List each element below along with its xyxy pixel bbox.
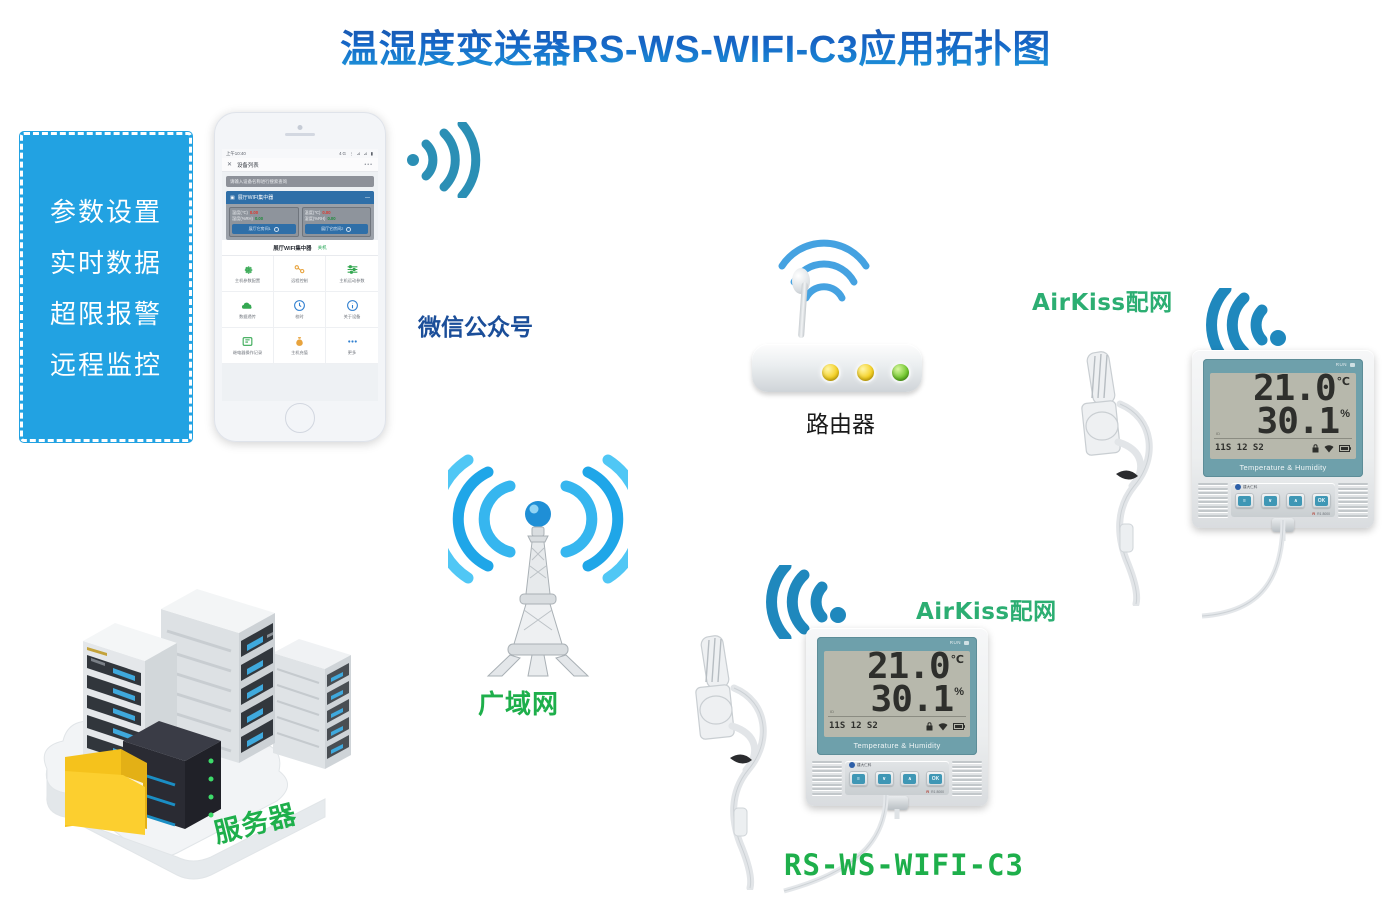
ok-icon: OK [929, 774, 942, 784]
device-caption: Temperature & Humidity [817, 741, 977, 750]
device-button-menu[interactable]: ≡ [849, 771, 868, 786]
gear-icon [346, 227, 351, 232]
airkiss-label-top: AirKiss配网 [1032, 283, 1173, 317]
status-time: 上午10:40 [226, 151, 246, 157]
lcd-time: 11S 12 S2 [1215, 443, 1264, 453]
device-button-ok[interactable]: OK [926, 771, 945, 786]
device-button-ok[interactable]: OK [1312, 493, 1331, 508]
device-button-down[interactable]: ∨ [875, 771, 894, 786]
lcd-id-label: ID [830, 709, 834, 714]
lcd-status-row: 11S 12 S2 [829, 720, 965, 732]
grid-item-label-0: 主机参数配置 [235, 279, 260, 283]
brand-logo-icon [849, 762, 855, 768]
grid-item-5[interactable]: 关于设备 [326, 292, 378, 328]
wechat-wifi-icon [404, 122, 488, 198]
sensor-cell-0: 温度(℃)0.00 湿度(%RH)0.00 展厅它房间1 [229, 207, 299, 237]
sensor-cell-1: 温度(℃)0.00 湿度(%RH)0.00 展厅它房间2 [302, 207, 372, 237]
device-button-menu[interactable]: ≡ [1235, 493, 1254, 508]
expand-icon: ▣ [230, 195, 235, 201]
run-led-icon [964, 641, 969, 645]
phone-home-button[interactable] [285, 403, 315, 433]
brand-logo-icon [1235, 484, 1241, 490]
sensor-cell-button-label-1: 展厅它房间2 [321, 226, 343, 232]
device-status-badge: 关机 [318, 245, 327, 251]
remote-control-icon [293, 263, 306, 276]
device-run-indicator: RUN [950, 640, 969, 645]
grid-item-0[interactable]: 主机参数配置 [222, 256, 274, 292]
relay-log-icon [241, 335, 254, 348]
hum-value: 0.00 [255, 216, 263, 221]
model-text: R1 8000 [931, 790, 944, 794]
server-cluster [35, 565, 385, 885]
lock-icon [1312, 444, 1319, 453]
lcd-time: 11S 12 S2 [829, 721, 878, 731]
grid-item-3[interactable]: 数据透传 [222, 292, 274, 328]
info-icon [346, 299, 359, 312]
gear-icon [241, 263, 254, 276]
more-dots-icon[interactable]: ••• [364, 162, 373, 168]
grid-item-2[interactable]: 主机运动参数 [326, 256, 378, 292]
device-buttons: ≡ ∨ ∧ OK [1235, 493, 1331, 508]
grid-item-label-2: 主机运动参数 [339, 279, 364, 283]
temp-value: 0.00 [322, 210, 330, 215]
feature-item-0: 参数设置 [50, 192, 162, 229]
temp-value: 0.00 [250, 210, 258, 215]
lcd-humidity-value: 30.1 [871, 683, 954, 717]
lcd-icon-group [926, 722, 965, 731]
grid-item-label-5: 关于设备 [344, 315, 361, 319]
chevron-down-icon: ∨ [878, 774, 891, 784]
battery-icon [953, 723, 965, 730]
model-label: RS-WS-WIFI-C3 [784, 848, 1024, 882]
grid-item-label-7: 主机充值 [291, 351, 308, 355]
lcd-temperature-unit: ℃ [1337, 375, 1350, 388]
money-bag-icon [293, 335, 306, 348]
lock-icon [926, 722, 933, 731]
phone-screen: 上午10:40 4G ⋮ ⊿ ⊿ ▮ ✕ 设备列表 ••• 请输入设备名称进行搜… [222, 149, 378, 401]
device-bezel: RUN 21.0 ℃ 30.1 % ID 11S 12 S2 [1203, 359, 1363, 477]
sensor-device-top: RUN 21.0 ℃ 30.1 % ID 11S 12 S2 [1192, 350, 1374, 528]
model-text: R1 8000 [1317, 512, 1330, 516]
feature-item-3: 远程监控 [50, 345, 162, 382]
feature-list-box: 参数设置 实时数据 超限报警 远程监控 [20, 132, 192, 442]
vent-right-icon [952, 759, 982, 797]
lcd-icon-group [1312, 444, 1351, 453]
ok-icon: OK [1315, 496, 1328, 506]
grid-item-label-1: 远程控制 [291, 279, 308, 283]
wifi-icon [938, 722, 948, 731]
device-bezel: RUN 21.0 ℃ 30.1 % ID 11S 12 S2 [817, 637, 977, 755]
chevron-up-icon: ∧ [1289, 496, 1302, 506]
brand-name: 建大仁科 [857, 763, 871, 768]
search-placeholder: 请输入设备名称进行搜索查询 [230, 179, 287, 185]
sensor-cell-button-label-0: 展厅它房间1 [249, 226, 271, 232]
device-brand: 建大仁科 [1235, 484, 1257, 490]
topology-diagram: 温湿度变送器RS-WS-WIFI-C3应用拓扑图 参数设置 实时数据 超限报警 … [0, 0, 1391, 906]
phone-camera-icon [298, 125, 303, 130]
vent-left-icon [812, 759, 842, 797]
lcd-id-label: ID [1216, 431, 1220, 436]
hum-label: 湿度(%RH) [305, 216, 326, 222]
device-button-up[interactable]: ∧ [1286, 493, 1305, 508]
brand-name: 建大仁科 [1243, 485, 1257, 490]
menu-icon: ≡ [852, 774, 865, 784]
grid-item-6[interactable]: 继电器操作记录 [222, 328, 274, 364]
lcd-humidity-row: 30.1 % [1257, 405, 1350, 439]
vent-left-icon [1198, 481, 1228, 519]
function-grid: 主机参数配置 远程控制 主机运动参数 [222, 256, 378, 364]
grid-item-label-8: 更多 [348, 351, 356, 355]
sensor-device-bottom: RUN 21.0 ℃ 30.1 % ID 11S 12 S2 [806, 628, 988, 806]
model-logo-icon: R [1312, 511, 1315, 516]
device-button-panel: 建大仁科 ≡ ∨ ∧ OK R R1 8000 [1231, 483, 1335, 517]
phone-status-bar: 上午10:40 4G ⋮ ⊿ ⊿ ▮ [222, 149, 378, 158]
model-logo-icon: R [926, 789, 929, 794]
device-name: 展厅WIFI集中器 [273, 244, 311, 252]
device-buttons: ≡ ∨ ∧ OK [849, 771, 945, 786]
device-card-body: 温度(℃)0.00 湿度(%RH)0.00 展厅它房间1 温度(℃)0.00 湿… [226, 204, 374, 240]
feature-item-2: 超限报警 [50, 294, 162, 331]
router-led-2 [890, 362, 911, 383]
grid-item-8[interactable]: 更多 [326, 328, 378, 364]
wifi-icon [1324, 444, 1334, 453]
more-dots-icon [346, 335, 359, 348]
device-card-header[interactable]: ▣展厅WIFI集中器 — [226, 191, 374, 204]
run-label: RUN [1336, 362, 1347, 367]
chevron-down-icon: ∨ [1264, 496, 1277, 506]
lcd-status-row: 11S 12 S2 [1215, 442, 1351, 454]
feature-item-1: 实时数据 [50, 243, 162, 280]
search-input[interactable]: 请输入设备名称进行搜索查询 [226, 176, 374, 187]
device-model-mark: R R1 8000 [926, 789, 944, 794]
collapse-icon[interactable]: — [365, 195, 370, 201]
vent-right-icon [1338, 481, 1368, 519]
run-label: RUN [950, 640, 961, 645]
grid-item-label-4: 校时 [295, 315, 303, 319]
router-led-group [820, 362, 911, 383]
sensor-cell-button-1[interactable]: 展厅它房间2 [305, 224, 369, 234]
run-led-icon [1350, 363, 1355, 367]
grid-item-4[interactable]: 校时 [274, 292, 326, 328]
sliders-icon [346, 263, 359, 276]
lcd-divider [828, 716, 966, 717]
router-led-0 [820, 362, 841, 383]
lcd-divider [1214, 438, 1352, 439]
device-lcd-bottom: 21.0 ℃ 30.1 % ID 11S 12 S2 [824, 651, 970, 737]
wan-label: 广域网 [478, 684, 559, 721]
device-model-mark: R R1 8000 [1312, 511, 1330, 516]
app-title: 设备列表 [237, 161, 259, 169]
battery-icon [1339, 445, 1351, 452]
device-cable-top [1140, 520, 1300, 640]
device-brand: 建大仁科 [849, 762, 871, 768]
router-device [752, 330, 922, 392]
status-indicators: 4G ⋮ ⊿ ⊿ ▮ [339, 151, 374, 157]
grid-item-label-6: 继电器操作记录 [233, 351, 262, 355]
device-lcd-top: 21.0 ℃ 30.1 % ID 11S 12 S2 [1210, 373, 1356, 459]
device-card: ▣展厅WIFI集中器 — 温度(℃)0.00 湿度(%RH)0.00 展厅它房间… [226, 191, 374, 240]
cloud-upload-icon [241, 299, 254, 312]
lcd-temperature-unit: ℃ [951, 653, 964, 666]
device-run-indicator: RUN [1336, 362, 1355, 367]
clock-icon [293, 299, 306, 312]
wechat-label: 微信公众号 [418, 308, 533, 342]
device-name-row: 展厅WIFI集中器 关机 [222, 240, 378, 256]
device-caption: Temperature & Humidity [1203, 463, 1363, 472]
device-button-panel: 建大仁科 ≡ ∨ ∧ OK R R1 8000 [845, 761, 949, 795]
sensor-cell-button-0[interactable]: 展厅它房间1 [232, 224, 296, 234]
chevron-up-icon: ∧ [903, 774, 916, 784]
lcd-humidity-row: 30.1 % [871, 683, 964, 717]
device-card-title: 展厅WIFI集中器 [238, 195, 274, 201]
device-button-down[interactable]: ∨ [1261, 493, 1280, 508]
close-icon[interactable]: ✕ [227, 161, 232, 168]
hum-value: 0.00 [327, 216, 335, 221]
grid-item-1[interactable]: 远程控制 [274, 256, 326, 292]
router-label: 路由器 [806, 405, 875, 439]
lcd-humidity-unit: % [1340, 408, 1350, 420]
grid-item-7[interactable]: 主机充值 [274, 328, 326, 364]
airkiss-label-bottom: AirKiss配网 [916, 592, 1057, 626]
grid-item-label-3: 数据透传 [239, 315, 256, 319]
hum-label: 湿度(%RH) [232, 216, 253, 222]
phone-speaker [285, 133, 315, 136]
wan-tower [448, 448, 628, 678]
lcd-humidity-value: 30.1 [1257, 405, 1340, 439]
smartphone-mockup: 上午10:40 4G ⋮ ⊿ ⊿ ▮ ✕ 设备列表 ••• 请输入设备名称进行搜… [214, 112, 386, 442]
device-front-panel: 建大仁科 ≡ ∨ ∧ OK R R1 8000 [1198, 481, 1368, 519]
device-button-up[interactable]: ∧ [900, 771, 919, 786]
device-front-panel: 建大仁科 ≡ ∨ ∧ OK R R1 8000 [812, 759, 982, 797]
menu-icon: ≡ [1238, 496, 1251, 506]
gear-icon [274, 227, 279, 232]
page-title: 温湿度变送器RS-WS-WIFI-C3应用拓扑图 [0, 18, 1391, 73]
app-nav-bar: ✕ 设备列表 ••• [222, 158, 378, 172]
router-wifi-icon [770, 238, 878, 312]
router-led-1 [855, 362, 876, 383]
lcd-humidity-unit: % [954, 686, 964, 698]
